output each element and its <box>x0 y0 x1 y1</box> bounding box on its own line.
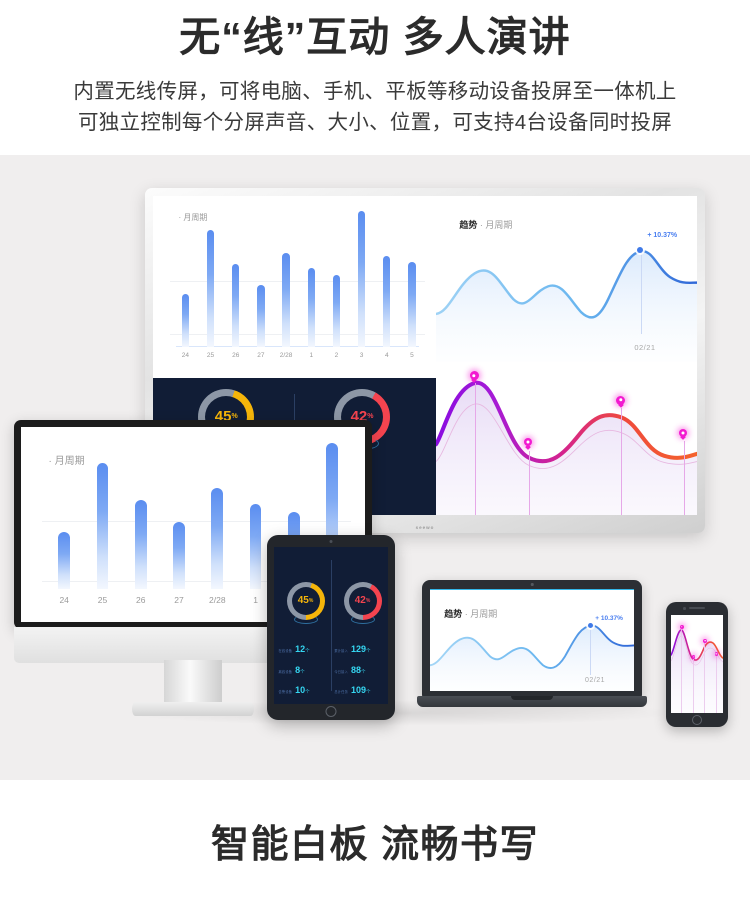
bar-xlabel-26: 26 <box>120 595 161 605</box>
tablet-device[interactable]: 45% 42% 在线设备 12 个 离线设备 <box>267 535 395 720</box>
phone-map-pin-icon-1[interactable] <box>680 625 684 629</box>
phone-speaker-icon <box>689 607 705 609</box>
trend-peak-label: + 10.37% <box>647 232 677 239</box>
bar-25 <box>207 230 214 347</box>
phone-map-pin-icon-3[interactable] <box>703 639 707 643</box>
bar-xlabel-27: 27 <box>158 595 199 605</box>
tablet-gauge-right-base <box>351 615 375 624</box>
laptop-base-notch <box>511 696 553 700</box>
laptop-lid: 趋势 · 月周期 <box>422 580 642 698</box>
laptop-peak-label: + 10.37% <box>595 615 623 622</box>
tablet-stat-left-3: 告警设备 10 个 <box>279 685 310 695</box>
map-pin-icon-3[interactable] <box>616 396 625 405</box>
whiteboard-panel-wave-chart[interactable] <box>436 362 697 515</box>
tablet-stat-left-1: 在线设备 12 个 <box>279 644 310 654</box>
phone-screen[interactable] <box>671 615 723 713</box>
phone-pin-stem-2 <box>693 659 694 713</box>
header-section: 无“线”互动 多人演讲 内置无线传屏，可将电脑、手机、平板等移动设备投屏至一体机… <box>0 0 750 155</box>
tablet-gauge-left-hole: 45% <box>292 587 320 615</box>
monitor-stand-base <box>132 702 254 716</box>
page-title: 无“线”互动 多人演讲 <box>0 0 750 58</box>
stat-label: 离线设备 <box>279 669 293 674</box>
map-pin-icon-1[interactable] <box>470 371 479 380</box>
stat-unit: 个 <box>305 648 310 654</box>
tablet-stat-right-1: 累计接入 129 个 <box>334 644 370 654</box>
bar-27 <box>173 522 185 589</box>
bar-24 <box>182 294 189 347</box>
bar-xlabel-24: 24 <box>44 595 85 605</box>
tablet-divider <box>331 560 332 692</box>
bar-xlabel-5: 5 <box>395 352 429 359</box>
stat-value: 12 <box>295 644 305 654</box>
bar-27 <box>257 285 264 347</box>
laptop-trend-svg <box>430 590 634 691</box>
laptop-screen[interactable]: 趋势 · 月周期 <box>430 589 634 691</box>
tablet-home-button-icon[interactable] <box>326 706 337 717</box>
phone-map-pin-icon-2[interactable] <box>692 655 696 659</box>
product-feature-page: 无“线”互动 多人演讲 内置无线传屏，可将电脑、手机、平板等移动设备投屏至一体机… <box>0 0 750 900</box>
trend-peak-stem <box>641 251 642 334</box>
bar-5 <box>408 262 415 347</box>
stat-label: 累计接入 <box>334 648 348 653</box>
header-subtitle: 内置无线传屏，可将电脑、手机、平板等移动设备投屏至一体机上 可独立控制每个分屏声… <box>0 58 750 138</box>
stat-unit: 个 <box>305 689 310 695</box>
tablet-gauge-left-value: 45 <box>298 596 309 606</box>
bar-xlabel-25: 25 <box>82 595 123 605</box>
header-subtitle-line-1: 内置无线传屏，可将电脑、手机、平板等移动设备投屏至一体机上 <box>0 76 750 107</box>
laptop-device[interactable]: 趋势 · 月周期 <box>417 580 647 715</box>
wave-pin-stem-3 <box>621 408 622 515</box>
bar-4 <box>383 256 390 347</box>
stat-label: 今日接入 <box>334 669 348 674</box>
bar-series-board <box>153 196 436 347</box>
stat-value: 88 <box>351 665 361 675</box>
phone-camera-icon <box>683 607 686 610</box>
map-pin-icon-2[interactable] <box>524 438 532 446</box>
tablet-gauge-right[interactable]: 42% <box>344 582 382 620</box>
laptop-camera-icon <box>531 583 534 586</box>
bar-1 <box>308 268 315 347</box>
tablet-gauge-right-unit: % <box>366 598 370 604</box>
smartphone-device[interactable] <box>666 602 728 727</box>
bar-xlabel-2/28: 2/28 <box>197 595 238 605</box>
header-subtitle-line-2: 可独立控制每个分屏声音、大小、位置，可支持4台设备同时投屏 <box>0 107 750 138</box>
stat-label: 告警设备 <box>279 689 293 694</box>
stat-label: 在线设备 <box>279 648 293 653</box>
tablet-screen[interactable]: 45% 42% 在线设备 12 个 离线设备 <box>274 547 388 704</box>
tablet-stat-left-2: 离线设备 8 个 <box>279 665 305 675</box>
footer-title: 智能白板 流畅书写 <box>211 813 539 868</box>
phone-map-pin-icon-4[interactable] <box>715 652 719 656</box>
stat-unit: 个 <box>361 669 366 675</box>
laptop-xaxis-date: 02/21 <box>585 677 605 684</box>
device-showcase-stage: · 月周期 242526272/2812345 <box>0 155 750 780</box>
stat-unit: 个 <box>366 648 371 654</box>
stat-value: 10 <box>295 685 305 695</box>
bar-26 <box>232 264 239 347</box>
trend-area-svg <box>436 196 697 362</box>
map-pin-icon-4[interactable] <box>679 429 687 437</box>
bar-25 <box>97 463 109 588</box>
bar-26 <box>135 500 147 589</box>
tablet-gauge-left-base <box>294 615 318 624</box>
tablet-camera-icon <box>330 540 333 543</box>
tablet-stat-right-2: 今日接入 88 个 <box>334 665 365 675</box>
bar-3 <box>358 211 365 347</box>
monitor-stand-neck <box>164 660 222 705</box>
wave-pin-stem-1 <box>475 383 476 515</box>
wave-pin-stem-2 <box>529 451 530 515</box>
wave-pin-stem-4 <box>684 441 685 514</box>
tablet-gauge-right-hole: 42% <box>349 587 377 615</box>
phone-home-button-icon[interactable] <box>692 715 702 725</box>
stat-label: 总计任务 <box>334 689 348 694</box>
tablet-gauge-left[interactable]: 45% <box>287 582 325 620</box>
tablet-gauge-left-unit: % <box>309 598 313 604</box>
stat-unit: 个 <box>366 689 371 695</box>
trend-xaxis-date: 02/21 <box>634 343 655 352</box>
footer-section: 智能白板 流畅书写 <box>0 780 750 900</box>
whiteboard-panel-bar-chart[interactable]: · 月周期 242526272/2812345 <box>153 196 436 378</box>
stat-unit: 个 <box>300 669 305 675</box>
bar-24 <box>58 532 70 589</box>
phone-pin-stem-1 <box>681 629 682 713</box>
tablet-stat-right-3: 总计任务 109 个 <box>334 685 370 695</box>
phone-pin-stem-3 <box>704 642 705 713</box>
stat-value: 129 <box>351 644 366 654</box>
trend-area-fill <box>436 251 697 362</box>
tablet-gauge-right-value: 42 <box>355 596 366 606</box>
laptop-peak-stem <box>590 626 591 674</box>
bar-1 <box>250 504 262 589</box>
bar-2/28 <box>282 253 289 347</box>
whiteboard-brand-logo: seewo <box>416 525 435 530</box>
bar-2 <box>333 275 340 347</box>
bar-2/28 <box>211 488 223 589</box>
phone-pin-stem-4 <box>716 656 717 713</box>
stat-value: 109 <box>351 685 366 695</box>
whiteboard-panel-trend-chart[interactable]: 趋势 · 月周期 <box>436 196 697 362</box>
